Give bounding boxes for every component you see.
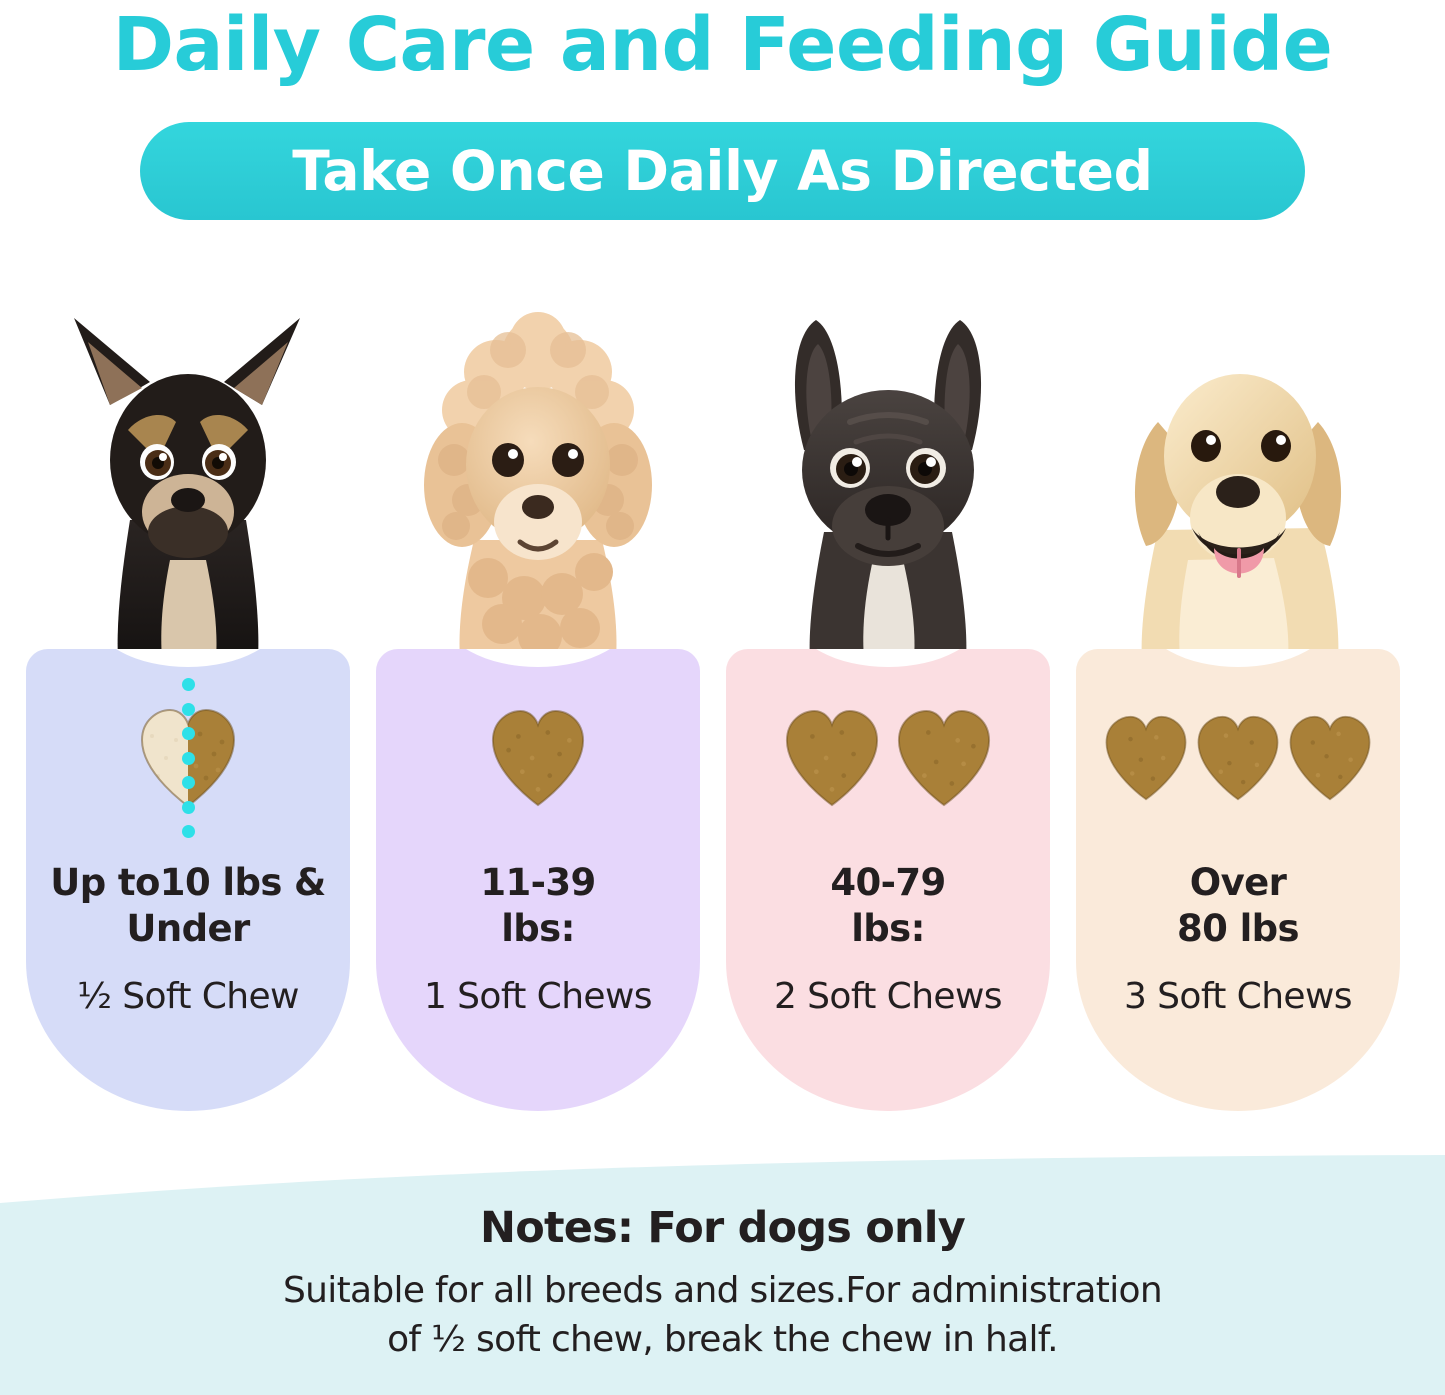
dose-label: ½ Soft Chew — [18, 975, 358, 1018]
break-dot — [182, 752, 195, 765]
weight-range-label: 11-39 lbs: — [368, 860, 708, 953]
dose-column-40-79-lbs: 40-79 lbs: 2 Soft Chews — [718, 300, 1058, 1130]
weight-line-1: Over — [1190, 861, 1287, 904]
weight-line-2: lbs: — [851, 907, 925, 950]
soft-chew-icon — [1103, 712, 1189, 804]
directions-banner-label: Take Once Daily As Directed — [292, 139, 1152, 203]
soft-chew-icon — [1287, 712, 1373, 804]
card-text-block: Over 80 lbs 3 Soft Chews — [1068, 860, 1408, 1018]
dog-photo-french-bulldog — [718, 300, 1058, 660]
weight-range-label: Up to10 lbs & Under — [18, 860, 358, 953]
soft-chew-icon — [783, 706, 881, 810]
feeding-guide-infographic: Daily Care and Feeding Guide Take Once D… — [0, 0, 1445, 1395]
card-photo-notch — [793, 649, 983, 667]
break-dot — [182, 825, 195, 838]
weight-line-1: 40-79 — [830, 861, 945, 904]
dog-photo-chihuahua — [18, 300, 358, 660]
card-text-block: Up to10 lbs & Under ½ Soft Chew — [18, 860, 358, 1018]
dose-column-up-to-10-lbs: Up to10 lbs & Under ½ Soft Chew — [18, 300, 358, 1130]
notes-title: Notes: For dogs only — [0, 1203, 1445, 1253]
dose-label: 3 Soft Chews — [1068, 975, 1408, 1018]
dose-column-over-80-lbs: Over 80 lbs 3 Soft Chews — [1068, 300, 1408, 1130]
break-dot — [182, 727, 195, 740]
break-dot — [182, 678, 195, 691]
weight-line-1: 11-39 — [480, 861, 595, 904]
card-text-block: 40-79 lbs: 2 Soft Chews — [718, 860, 1058, 1018]
weight-line-2: Under — [126, 907, 249, 950]
notes-body: Suitable for all breeds and sizes.For ad… — [0, 1267, 1445, 1364]
chew-illustration-group — [18, 698, 358, 818]
card-photo-notch — [93, 649, 283, 667]
weight-line-2: lbs: — [501, 907, 575, 950]
dose-label: 2 Soft Chews — [718, 975, 1058, 1018]
notes-section: Notes: For dogs only Suitable for all br… — [0, 1155, 1445, 1395]
chew-illustration-group — [368, 698, 708, 818]
weight-range-label: Over 80 lbs — [1068, 860, 1408, 953]
break-dot — [182, 801, 195, 814]
break-dot — [182, 703, 195, 716]
break-dot — [182, 776, 195, 789]
dog-photo-poodle — [368, 300, 708, 660]
card-photo-notch — [1143, 649, 1333, 667]
page-title: Daily Care and Feeding Guide — [0, 2, 1445, 88]
notes-content: Notes: For dogs only Suitable for all br… — [0, 1203, 1445, 1364]
card-text-block: 11-39 lbs: 1 Soft Chews — [368, 860, 708, 1018]
break-line-dots — [181, 678, 195, 838]
soft-chew-icon — [489, 706, 587, 810]
weight-line-1: Up to10 lbs & — [50, 861, 325, 904]
notes-line-2: of ½ soft chew, break the chew in half. — [0, 1316, 1445, 1365]
weight-line-2: 80 lbs — [1177, 907, 1299, 950]
soft-chew-icon — [1195, 712, 1281, 804]
chew-illustration-group — [1068, 698, 1408, 818]
soft-chew-half-icon — [136, 706, 240, 810]
soft-chew-icon — [895, 706, 993, 810]
dose-column-11-39-lbs: 11-39 lbs: 1 Soft Chews — [368, 300, 708, 1130]
weight-range-label: 40-79 lbs: — [718, 860, 1058, 953]
dose-label: 1 Soft Chews — [368, 975, 708, 1018]
chew-illustration-group — [718, 698, 1058, 818]
notes-line-1: Suitable for all breeds and sizes.For ad… — [0, 1267, 1445, 1316]
directions-banner: Take Once Daily As Directed — [140, 122, 1305, 220]
dog-photo-golden-retriever — [1068, 300, 1408, 660]
card-photo-notch — [443, 649, 633, 667]
